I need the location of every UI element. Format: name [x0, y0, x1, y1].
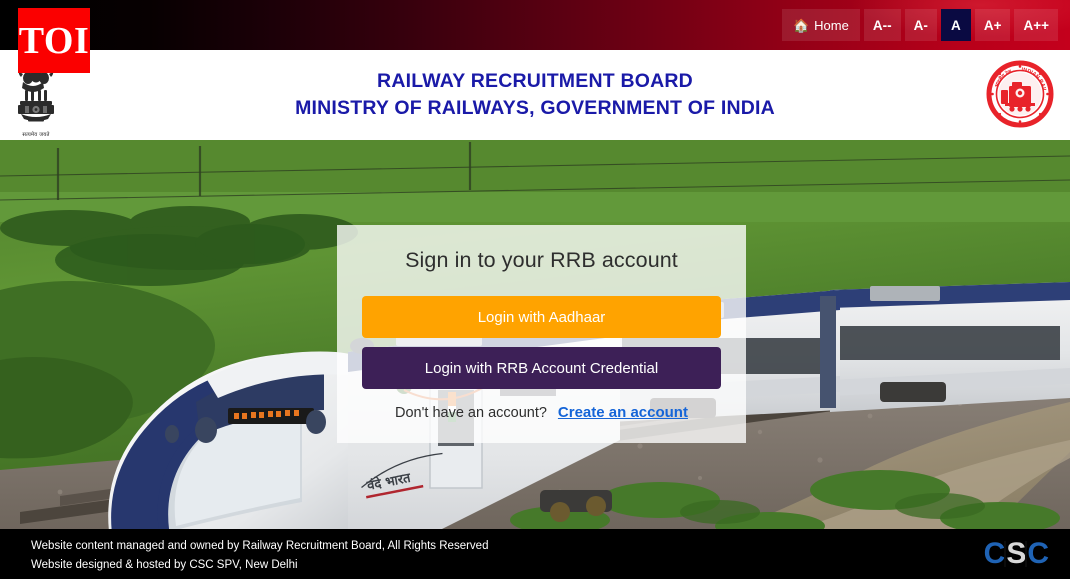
csc-logo: C S C: [984, 538, 1048, 570]
font-size-normal-button[interactable]: A: [941, 9, 971, 41]
csc-logo-s: S: [1006, 537, 1025, 571]
login-card: Sign in to your RRB account Login with A…: [337, 225, 746, 443]
font-size-normal-label: A: [951, 18, 961, 33]
signup-row: Don't have an account? Create an account: [395, 404, 688, 421]
home-label: Home: [814, 18, 849, 33]
site-title-line2: MINISTRY OF RAILWAYS, GOVERNMENT OF INDI…: [295, 96, 775, 121]
login-with-aadhaar-button[interactable]: Login with Aadhaar: [362, 296, 721, 338]
site-title: RAILWAY RECRUITMENT BOARD MINISTRY OF RA…: [0, 50, 1070, 140]
login-card-title: Sign in to your RRB account: [405, 248, 678, 273]
font-size-larger-button[interactable]: A+: [975, 9, 1011, 41]
font-size-smallest-label: A--: [873, 18, 892, 33]
login-with-rrb-credential-button[interactable]: Login with RRB Account Credential: [362, 347, 721, 389]
rrb-login-page: 🏠 Home A-- A- A A+ A++ TOI: [0, 0, 1070, 579]
top-navigation: 🏠 Home A-- A- A A+ A++: [782, 9, 1058, 41]
create-account-link[interactable]: Create an account: [558, 404, 688, 421]
site-header: सत्यमेव जयते RAILWAY RECRUITMENT BOARD M…: [0, 50, 1070, 140]
toi-watermark-logo: TOI: [18, 8, 90, 73]
indian-railways-logo-icon: INDIAN RAILWAYS भारतीय रेल: [986, 60, 1054, 128]
font-size-largest-label: A++: [1023, 18, 1049, 33]
home-icon: 🏠: [793, 19, 809, 32]
font-size-smaller-button[interactable]: A-: [905, 9, 937, 41]
csc-logo-c1: C: [984, 537, 1005, 571]
signup-prompt: Don't have an account?: [395, 405, 547, 421]
toi-watermark-label: TOI: [19, 22, 90, 60]
footer-line-2: Website designed & hosted by CSC SPV, Ne…: [31, 556, 488, 575]
site-title-line1: RAILWAY RECRUITMENT BOARD: [377, 69, 693, 94]
site-footer: Website content managed and owned by Rai…: [0, 529, 1070, 579]
font-size-larger-label: A+: [984, 18, 1002, 33]
font-size-smallest-button[interactable]: A--: [864, 9, 901, 41]
footer-text: Website content managed and owned by Rai…: [31, 537, 488, 575]
home-button[interactable]: 🏠 Home: [782, 9, 860, 41]
footer-line-1: Website content managed and owned by Rai…: [31, 537, 488, 556]
font-size-smaller-label: A-: [914, 18, 928, 33]
csc-logo-c2: C: [1027, 537, 1048, 571]
font-size-largest-button[interactable]: A++: [1014, 9, 1058, 41]
